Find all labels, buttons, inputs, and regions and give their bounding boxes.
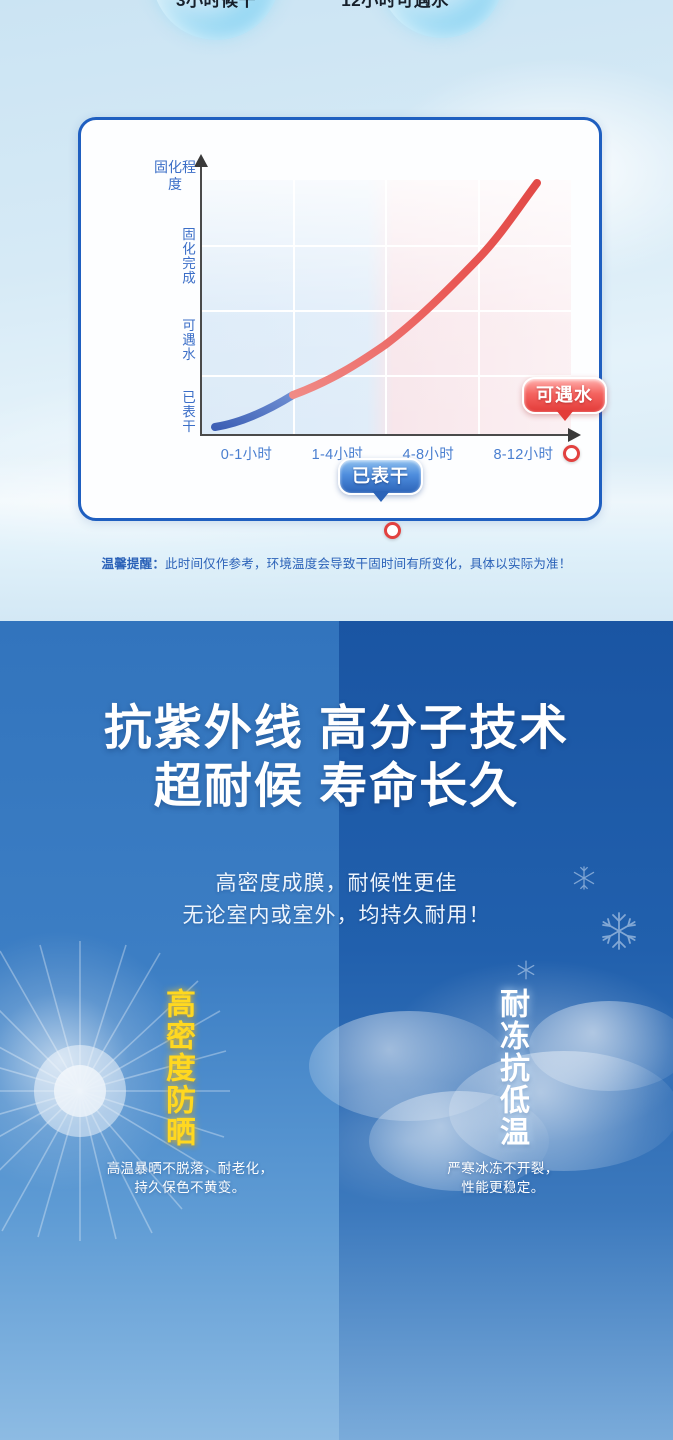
feature-desc-frostproof-line-2: 性能更稳定。 xyxy=(358,1178,648,1197)
subhead-line-1: 高密度成膜，耐候性更佳 xyxy=(0,868,673,900)
x-axis-label-0: 0-1小时 xyxy=(221,443,272,464)
bubble-caption-right: 12小时可遇水 xyxy=(300,0,490,11)
curing-chart-card: 固化程度 固化完成 可遇水 已表干 0-1小时 1-4小时 4-8小时 8-12… xyxy=(78,117,602,521)
reminder-text: 此时间仅作参考，环境温度会导致干固时间有所变化，具体以实际为准！ xyxy=(165,557,571,571)
callout-waterproof-label: 可遇水 xyxy=(536,385,593,405)
y-axis-label-complete: 固化完成 xyxy=(155,213,195,299)
feature-desc-sunproof-line-1: 高温暴晒不脱落，耐老化， xyxy=(40,1159,340,1178)
callout-tail-icon xyxy=(372,491,390,502)
y-axis-label-waterproof: 可遇水 xyxy=(155,307,195,373)
feature-desc-sunproof-line-2: 持久保色不黄变。 xyxy=(40,1178,340,1197)
section-subheadline: 高密度成膜，耐候性更佳 无论室内或室外，均持久耐用！ xyxy=(0,868,673,932)
data-marker-surfacedry xyxy=(384,522,401,539)
chart-plot-area: 固化程度 固化完成 可遇水 已表干 0-1小时 1-4小时 4-8小时 8-12… xyxy=(145,155,575,475)
callout-waterproof: 可遇水 xyxy=(522,377,607,414)
y-axis-title: 固化程度 xyxy=(153,159,197,193)
reminder-prefix: 温馨提醒： xyxy=(102,557,166,571)
feature-title-frostproof: 耐冻抗低温 xyxy=(494,988,528,1148)
snowflake-icon xyxy=(515,959,537,981)
page-root: 3小时候干 12小时可遇水 xyxy=(0,0,673,1440)
curve-graphic xyxy=(145,155,575,475)
section-headline: 抗紫外线 高分子技术 超耐候 寿命长久 xyxy=(0,700,673,816)
x-axis-label-3: 8-12小时 xyxy=(493,443,553,464)
callout-tail-icon xyxy=(556,410,574,421)
callout-surfacedry: 已表干 xyxy=(338,458,423,495)
reminder-note: 温馨提醒：此时间仅作参考，环境温度会导致干固时间有所变化，具体以实际为准！ xyxy=(0,553,673,572)
headline-line-2: 超耐候 寿命长久 xyxy=(0,758,673,816)
y-axis-label-surfacedry: 已表干 xyxy=(155,379,195,445)
subhead-line-2: 无论室内或室外，均持久耐用！ xyxy=(0,900,673,932)
feature-desc-frostproof-line-1: 严寒冰冻不开裂， xyxy=(358,1159,648,1178)
feature-desc-frostproof: 严寒冰冻不开裂， 性能更稳定。 xyxy=(358,1159,648,1197)
callout-surfacedry-label: 已表干 xyxy=(352,466,409,486)
headline-line-1: 抗紫外线 高分子技术 xyxy=(0,700,673,758)
data-marker-waterproof xyxy=(563,445,580,462)
bubble-caption-left: 3小时候干 xyxy=(121,0,311,11)
feature-title-sunproof: 高密度防晒 xyxy=(160,988,194,1148)
feature-desc-sunproof: 高温暴晒不脱落，耐老化， 持久保色不黄变。 xyxy=(40,1159,340,1197)
